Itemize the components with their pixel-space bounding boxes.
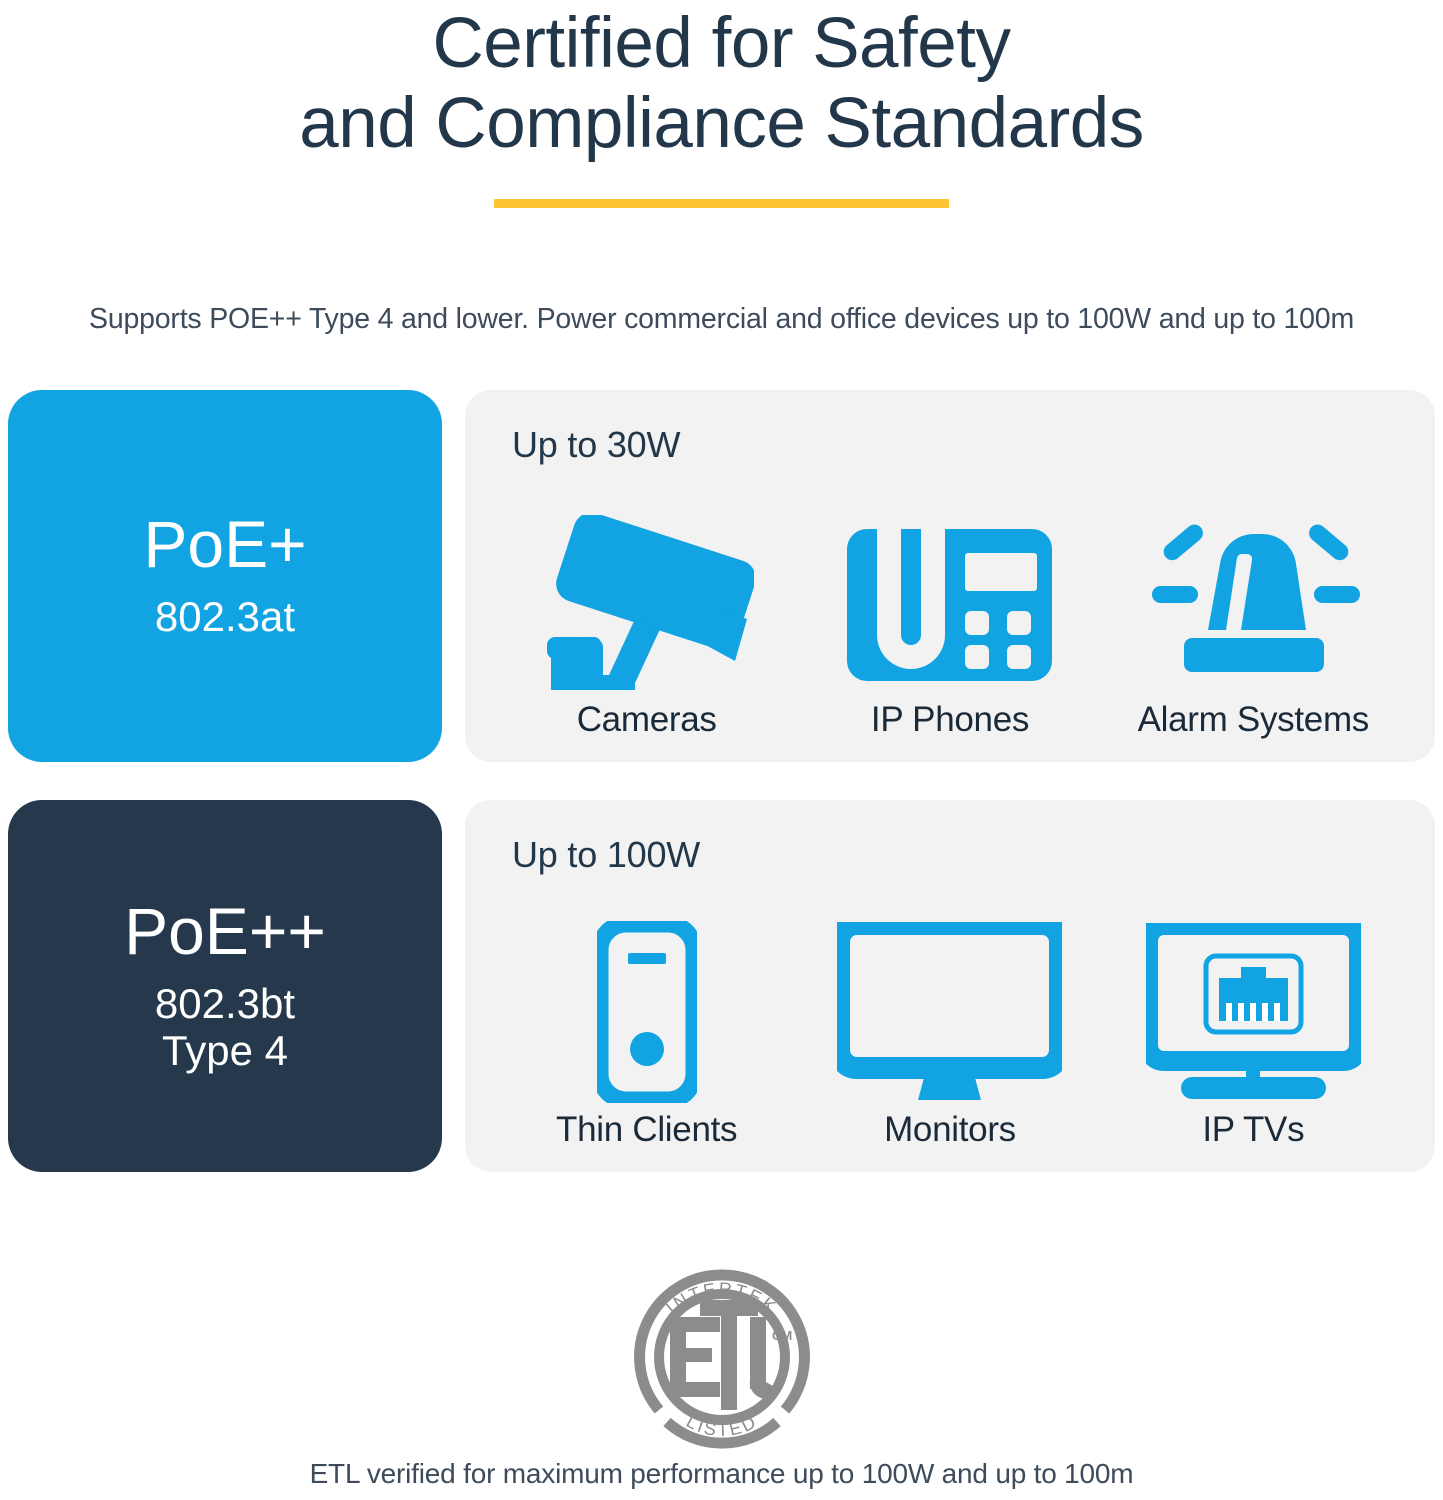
device-item-ip-tvs: IP TVs [1103,922,1403,1150]
device-item-monitors: Monitors [800,922,1100,1150]
device-label-thin-clients: Thin Clients [556,1110,737,1150]
device-label-cameras: Cameras [577,700,717,740]
panel-heading-100w: Up to 100W [512,834,700,876]
page-title-line-1: Certified for Safety [0,4,1443,84]
alarm-siren-icon [1138,512,1368,692]
device-grid-30w: Cameras [495,482,1405,740]
ip-phone-icon [847,512,1052,692]
device-item-alarm-systems: Alarm Systems [1103,512,1403,740]
panel-heading-30w: Up to 30W [512,424,680,466]
poe-plus-row: PoE+ 802.3at Up to 30W [0,390,1443,762]
device-label-monitors: Monitors [884,1110,1016,1150]
security-camera-icon [539,512,754,692]
etl-certification-badge: CM INTERTEK LISTED [0,1262,1443,1452]
standard-spec-line-1: 802.3at [155,593,295,640]
device-item-ip-phones: IP Phones [800,512,1100,740]
page-subtitle: Supports POE++ Type 4 and lower. Power c… [0,303,1443,336]
standard-spec-line-2: Type 4 [155,1027,295,1074]
devices-panel-30w: Up to 30W [465,390,1435,762]
standard-name: PoE++ [124,898,326,964]
standard-card-poe-plus: PoE+ 802.3at [8,390,442,762]
standard-spec: 802.3bt Type 4 [155,980,295,1074]
certification-infographic: Certified for Safety and Compliance Stan… [0,0,1443,1500]
etl-listed-icon: CM INTERTEK LISTED [622,1262,822,1452]
monitor-icon [837,922,1062,1102]
poe-plusplus-row: PoE++ 802.3bt Type 4 Up to 100W [0,800,1443,1172]
thin-client-tower-icon [597,922,697,1102]
accent-underline [494,199,949,208]
device-label-ip-phones: IP Phones [871,700,1029,740]
page-header: Certified for Safety and Compliance Stan… [0,0,1443,208]
devices-panel-100w: Up to 100W Thin Clients [465,800,1435,1172]
standard-spec-line-1: 802.3bt [155,980,295,1027]
device-item-thin-clients: Thin Clients [497,922,797,1150]
standard-spec: 802.3at [155,593,295,640]
etl-superscript-text: CM [772,1328,792,1343]
etl-footer-note: ETL verified for maximum performance up … [0,1458,1443,1490]
standard-card-poe-plusplus: PoE++ 802.3bt Type 4 [8,800,442,1172]
device-grid-100w: Thin Clients Monitors [495,892,1405,1150]
ip-tv-icon [1146,922,1361,1102]
device-label-alarm-systems: Alarm Systems [1138,700,1369,740]
page-title-line-2: and Compliance Standards [0,84,1443,164]
device-item-cameras: Cameras [497,512,797,740]
device-label-ip-tvs: IP TVs [1202,1110,1304,1150]
standard-name: PoE+ [143,511,306,577]
